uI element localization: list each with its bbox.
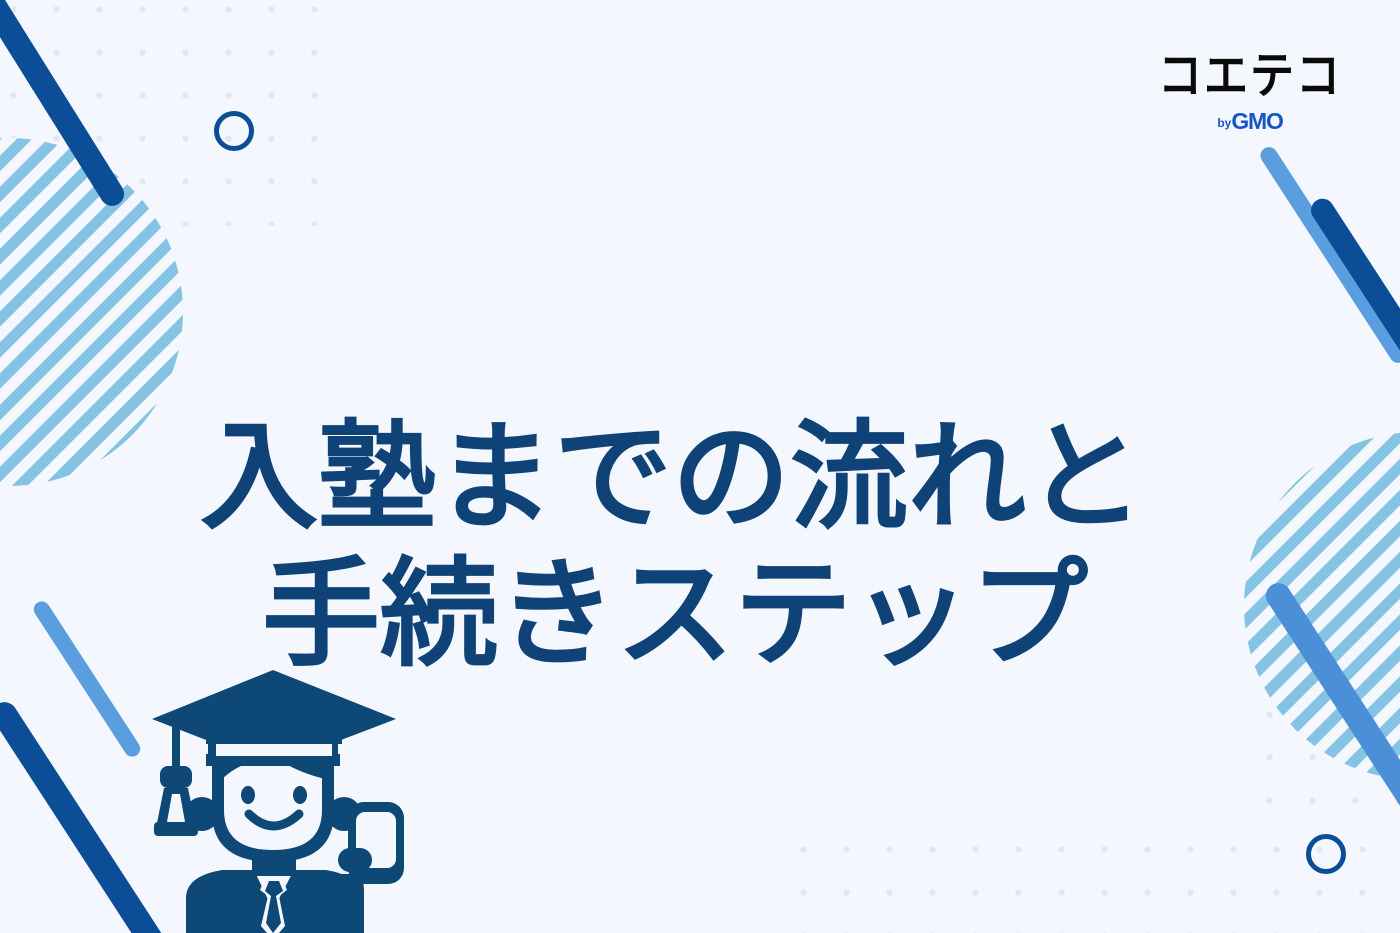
diagonal-bar-right-medium-icon [1261,578,1400,822]
page-title: 入塾までの流れと 手続きステップ [200,409,1210,683]
logo-gmo-text: GMO [1231,108,1282,134]
diagonal-bar-top-right-light-icon [1257,144,1400,366]
ring-top-left-icon [214,111,254,151]
diagonal-bar-bottom-left-light-icon [31,598,144,759]
koeteco-logo: コエテコ byGMO [1158,52,1342,133]
ring-bottom-right-icon [1306,834,1346,874]
dot-grid-bottom-right-icon [782,828,1400,933]
dot-grid-right-icon [1248,650,1400,830]
graduate-student-icon [150,662,415,933]
striped-circle-right-icon [1244,432,1400,780]
banner-canvas: コエテコ byGMO 入塾までの流れと 手続きステップ [0,0,1400,933]
dot-grid-top-left-icon [0,0,322,226]
logo-byline: byGMO [1158,110,1342,133]
title-line-1: 入塾までの流れと [200,409,1210,546]
diagonal-bar-top-left-icon [0,0,129,210]
diagonal-bar-bottom-left-dark-icon [0,697,172,933]
diagonal-bar-top-right-dark-icon [1307,194,1400,441]
striped-circle-left-icon [0,138,183,486]
logo-wordmark: コエテコ [1158,52,1342,101]
logo-by-text: by [1217,116,1231,130]
